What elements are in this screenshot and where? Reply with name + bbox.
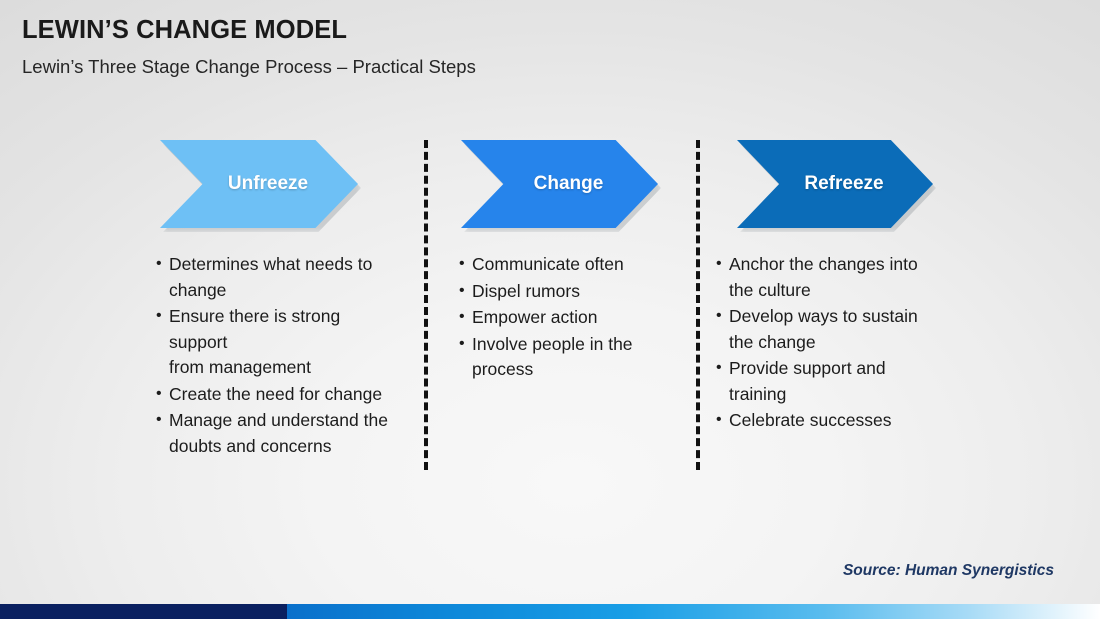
source-attribution: Source: Human Synergistics [843, 562, 1054, 580]
bullet-list: Anchor the changes into the culture Deve… [716, 252, 964, 434]
bullet-text-continuation: the culture [729, 278, 964, 304]
dashed-divider-right [696, 140, 700, 470]
bullet-text: Anchor the changes into [729, 254, 918, 274]
bullet-text-continuation: support [169, 330, 424, 356]
bullet-text-continuation: the change [729, 330, 964, 356]
bullet-text-continuation: training [729, 382, 964, 408]
dashed-divider-left [424, 140, 428, 470]
bullet-text-continuation: change [169, 278, 424, 304]
bullet-text: Involve people in the [472, 334, 633, 354]
bullet-text: Dispel rumors [472, 281, 580, 301]
bullet-list: Communicate often Dispel rumors Empower … [459, 252, 689, 383]
stage-label-refreeze: Refreeze [786, 173, 883, 195]
list-item: Empower action [459, 305, 689, 331]
list-item: Celebrate successes [716, 408, 964, 434]
stage-label-change: Change [516, 173, 604, 195]
bullet-text: Communicate often [472, 254, 624, 274]
bullet-text: Ensure there is strong [169, 306, 340, 326]
bullet-text: Manage and understand the [169, 410, 388, 430]
list-item: Manage and understand the doubts and con… [156, 408, 424, 459]
stage-bullets-refreeze: Anchor the changes into the culture Deve… [716, 252, 964, 435]
slide-canvas: LEWIN’S CHANGE MODEL Lewin’s Three Stage… [0, 0, 1100, 619]
footer-bar-navy-segment [0, 604, 287, 619]
stage-label-unfreeze: Unfreeze [210, 173, 308, 195]
list-item: Communicate often [459, 252, 689, 278]
list-item: Determines what needs to change [156, 252, 424, 303]
bullet-text: Celebrate successes [729, 410, 891, 430]
list-item: Provide support and training [716, 356, 964, 407]
bullet-text: Empower action [472, 307, 597, 327]
footer-bar-gradient-segment [287, 604, 1100, 619]
footer-bar [0, 604, 1100, 619]
list-item: Dispel rumors [459, 279, 689, 305]
bullet-text: Develop ways to sustain [729, 306, 918, 326]
bullet-list: Determines what needs to change Ensure t… [156, 252, 424, 459]
stage-bullets-change: Communicate often Dispel rumors Empower … [459, 252, 689, 384]
bullet-text-continuation: process [472, 357, 689, 383]
stage-bullets-unfreeze: Determines what needs to change Ensure t… [156, 252, 424, 460]
bullet-text: Determines what needs to [169, 254, 372, 274]
list-item: Involve people in the process [459, 332, 689, 383]
list-item: Ensure there is strong support from mana… [156, 304, 424, 381]
list-item: Create the need for change [156, 382, 424, 408]
page-subtitle: Lewin’s Three Stage Change Process – Pra… [22, 56, 476, 78]
bullet-text-continuation-2: from management [169, 355, 424, 381]
bullet-text-continuation: doubts and concerns [169, 434, 424, 460]
bullet-text: Provide support and [729, 358, 886, 378]
list-item: Develop ways to sustain the change [716, 304, 964, 355]
list-item: Anchor the changes into the culture [716, 252, 964, 303]
page-title: LEWIN’S CHANGE MODEL [22, 16, 347, 45]
bullet-text: Create the need for change [169, 384, 382, 404]
